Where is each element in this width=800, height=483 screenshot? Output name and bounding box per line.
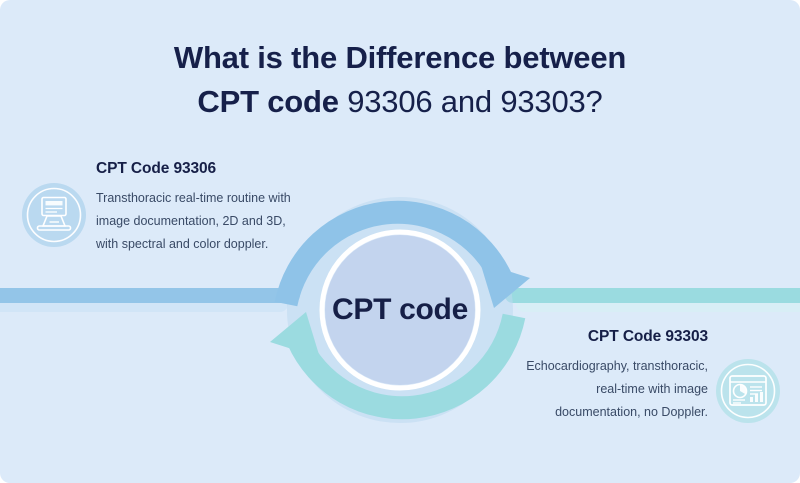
inner-circle — [325, 235, 475, 385]
page-title: What is the Difference between CPT code … — [0, 38, 800, 123]
title-cpt-code-emphasis: CPT code — [197, 84, 338, 119]
right-info-block: CPT Code 93303 Echocardiography, transth… — [512, 328, 708, 424]
right-block-heading: CPT Code 93303 — [512, 328, 708, 346]
connector-band-left-shadow — [0, 303, 288, 312]
left-block-heading: CPT Code 93306 — [96, 160, 292, 178]
infographic-canvas: What is the Difference between CPT code … — [0, 0, 800, 483]
cpt-code-cycle-diagram: CPT code — [268, 178, 532, 442]
right-block-body: Echocardiography, transthoracic, real-ti… — [512, 355, 708, 424]
title-codes: 93306 and 93303? — [339, 84, 603, 119]
connector-band-left — [0, 288, 300, 303]
connector-band-right-shadow — [516, 303, 800, 312]
report-chart-icon — [715, 358, 781, 424]
laptop-document-icon — [21, 182, 87, 248]
title-line-2: CPT code 93306 and 93303? — [0, 82, 800, 122]
title-line-1: What is the Difference between — [0, 38, 800, 78]
connector-band-right — [505, 288, 800, 303]
left-block-body: Transthoracic real-time routine with ima… — [96, 187, 292, 256]
left-info-block: CPT Code 93306 Transthoracic real-time r… — [96, 160, 292, 256]
